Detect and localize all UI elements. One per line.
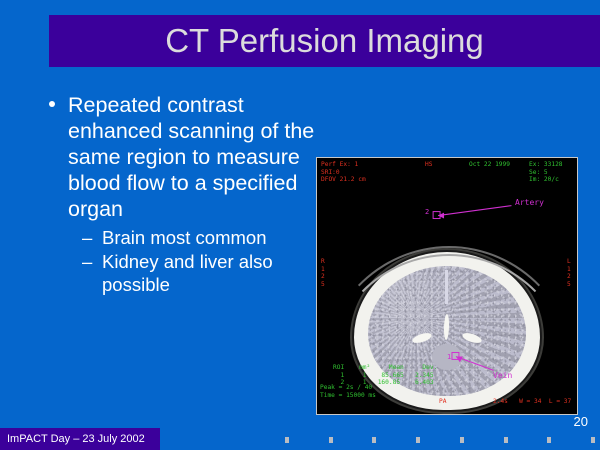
bullet-dash-icon: – — [82, 250, 92, 274]
footer-banner: ImPACT Day – 23 July 2002 — [0, 428, 160, 450]
ct-side-marker-right: R 1 2 5 — [321, 258, 325, 288]
ct-modality-text: HS — [425, 161, 432, 169]
footer-dot-icon — [504, 437, 508, 443]
ct-scan-image: 2 1 Artery Vein Perf Ex: 1 SRI:0 DFOV 21… — [316, 157, 578, 415]
footer-dot-icon — [547, 437, 551, 443]
bullet-list: Repeated contrast enhanced scanning of t… — [40, 92, 330, 297]
footer-dot-icon — [591, 437, 595, 443]
ct-peak-time-text: Peak = 2s / 40 Time = 15000 ms — [320, 384, 376, 399]
artery-annotation-label: Artery — [515, 198, 544, 207]
list-item: Repeated contrast enhanced scanning of t… — [40, 92, 330, 222]
ct-window-level-text: 2.4s W = 34 L = 37 — [493, 398, 571, 406]
bullet-dash-icon: – — [82, 226, 92, 250]
ct-side-marker-left: L 1 2 5 — [567, 258, 571, 288]
footer-dot-icon — [460, 437, 464, 443]
footer-dot-icon — [329, 437, 333, 443]
footer-dot-row — [285, 437, 595, 445]
ct-date-text: Oct 22 1999 — [469, 161, 510, 169]
list-item-text: Repeated contrast enhanced scanning of t… — [68, 93, 314, 221]
list-item-text: Kidney and liver also possible — [102, 251, 273, 296]
footer-text: ImPACT Day – 23 July 2002 — [7, 428, 145, 450]
footer-dot-icon — [285, 437, 289, 443]
roi-2-number: 2 — [425, 208, 429, 216]
footer-dot-icon — [372, 437, 376, 443]
list-item: – Brain most common — [40, 226, 330, 250]
ct-header-left-text: Perf Ex: 1 SRI:0 DFOV 21.2 cm — [321, 161, 366, 184]
ct-header-right-text: Ex: 33128 Se: 5 Im: 20/c — [529, 161, 563, 184]
list-item-text: Brain most common — [102, 227, 267, 248]
vein-annotation-label: Vein — [493, 371, 512, 380]
bullet-dot-icon — [49, 101, 55, 107]
page-number: 20 — [574, 414, 588, 429]
slide: CT Perfusion Imaging Repeated contrast e… — [0, 0, 600, 450]
list-item: – Kidney and liver also possible — [40, 250, 330, 297]
footer-dot-icon — [416, 437, 420, 443]
title-bar: CT Perfusion Imaging — [49, 15, 600, 67]
ct-orientation-text: PA — [439, 398, 446, 406]
page-title: CT Perfusion Imaging — [49, 15, 600, 67]
roi-1-number: 1 — [447, 353, 451, 361]
